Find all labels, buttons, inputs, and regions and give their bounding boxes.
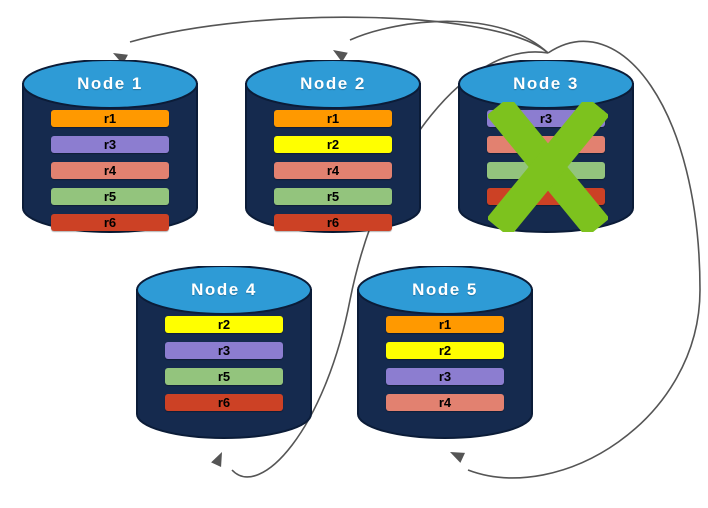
node-title: Node 2 [245,74,421,94]
replica-label: r5 [51,188,169,205]
arrow-path [350,21,548,53]
replica-bar[interactable]: r1 [274,110,392,127]
replica-bar[interactable]: r5 [51,188,169,205]
replica-label: r3 [386,368,504,385]
replica-label: r3 [487,110,605,127]
database-node-2[interactable]: Node 2r1r2r4r5r6 [245,60,421,232]
replica-label: r4 [51,162,169,179]
replica-label: r4 [386,394,504,411]
arrow-node3-to-node2 [330,21,548,62]
node-title: Node 1 [22,74,198,94]
replica-label [487,188,605,205]
replica-bar[interactable]: r5 [274,188,392,205]
replica-bar[interactable] [487,188,605,205]
replica-bar[interactable]: r4 [274,162,392,179]
arrow-head [448,447,465,463]
replica-bar[interactable]: r4 [386,394,504,411]
replica-bar[interactable]: r2 [165,316,283,333]
replica-label: r4 [274,162,392,179]
replica-bar[interactable]: r1 [386,316,504,333]
replica-label [487,162,605,179]
database-node-1[interactable]: Node 1r1r3r4r5r6 [22,60,198,232]
node-title: Node 3 [458,74,634,94]
replica-bar-list: r3 [458,110,634,205]
replica-label [487,136,605,153]
database-node-3[interactable]: Node 3r3 [458,60,634,232]
replica-label: r6 [165,394,283,411]
arrow-head [211,450,227,467]
replica-bar[interactable]: r3 [51,136,169,153]
diagram-canvas: Node 1r1r3r4r5r6Node 2r1r2r4r5r6Node 3r3… [0,0,708,508]
replica-bar[interactable]: r5 [165,368,283,385]
node-title: Node 5 [357,280,533,300]
replica-label: r1 [51,110,169,127]
replica-bar[interactable]: r3 [487,110,605,127]
replica-bar[interactable]: r2 [386,342,504,359]
replica-bar[interactable]: r3 [386,368,504,385]
node-title: Node 4 [136,280,312,300]
arrow-node3-to-node1 [110,17,548,64]
replica-label: r2 [165,316,283,333]
database-node-4[interactable]: Node 4r2r3r5r6 [136,266,312,438]
replica-bar[interactable] [487,136,605,153]
database-node-5[interactable]: Node 5r1r2r3r4 [357,266,533,438]
replica-label: r6 [274,214,392,231]
replica-bar[interactable]: r4 [51,162,169,179]
replica-label: r1 [274,110,392,127]
replica-bar[interactable]: r6 [274,214,392,231]
replica-bar[interactable]: r6 [165,394,283,411]
replica-bar[interactable]: r1 [51,110,169,127]
replica-label: r6 [51,214,169,231]
replica-label: r2 [386,342,504,359]
replica-label: r5 [165,368,283,385]
replica-bar-list: r2r3r5r6 [136,316,312,411]
replica-label: r3 [51,136,169,153]
replica-bar-list: r1r3r4r5r6 [22,110,198,231]
replica-bar-list: r1r2r4r5r6 [245,110,421,231]
replica-bar[interactable] [487,162,605,179]
replica-bar-list: r1r2r3r4 [357,316,533,411]
replica-label: r5 [274,188,392,205]
replica-bar[interactable]: r3 [165,342,283,359]
replica-bar[interactable]: r6 [51,214,169,231]
replica-label: r1 [386,316,504,333]
replica-label: r3 [165,342,283,359]
replica-bar[interactable]: r2 [274,136,392,153]
arrow-path [130,17,548,53]
replica-label: r2 [274,136,392,153]
